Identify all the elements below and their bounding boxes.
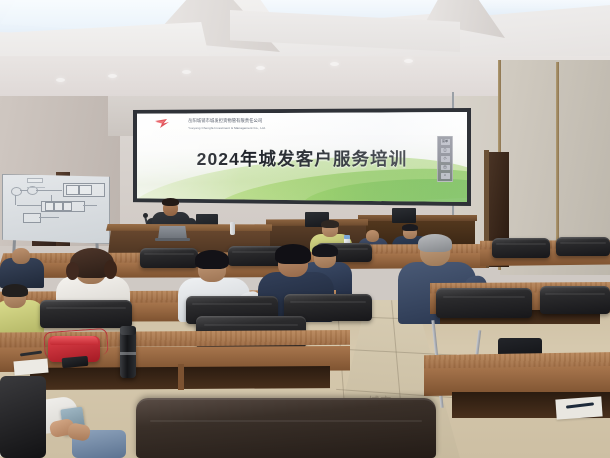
overlay-button-4[interactable]: ∨ (441, 173, 450, 179)
chair[interactable] (436, 288, 532, 318)
overlay-button-3[interactable]: 田 (441, 165, 450, 171)
attendee-hair-grey (418, 234, 452, 252)
projection-screen: 岳阳城销市城发担资物管有限责任公司 Yueyang Chengfa Invest… (137, 112, 467, 202)
chair[interactable] (40, 300, 132, 328)
screen-glare (137, 112, 467, 202)
attendee-hair (195, 250, 229, 269)
ceiling-downlight-icon (330, 62, 339, 66)
foreground-chair[interactable] (136, 398, 436, 458)
chair[interactable] (540, 286, 610, 314)
red-handbag-flap (50, 336, 98, 345)
chair[interactable] (492, 238, 550, 258)
attendee-hair (275, 244, 311, 264)
thermos-cap[interactable] (120, 326, 136, 335)
foreground-chair-seam (150, 420, 422, 422)
ceiling-downlight-icon (404, 59, 413, 63)
attendee-head (366, 230, 379, 242)
attendee-head (12, 248, 30, 264)
presenter-hair (162, 198, 179, 206)
water-bottle-cap (344, 235, 350, 239)
wall-trim-strip (556, 62, 559, 262)
foreground-chair-left[interactable] (0, 376, 46, 458)
attendee-hair (402, 224, 418, 231)
chair[interactable] (556, 237, 610, 256)
ceiling-downlight-icon (256, 66, 265, 70)
desktop-monitor (392, 208, 416, 223)
schematic-whiteboard (2, 174, 110, 244)
presenter-podium-top (106, 224, 272, 231)
projector-overlay-menu[interactable]: 菜单 口 小 田 ∨ (437, 136, 453, 182)
microphone-icon (143, 213, 148, 218)
water-bottle (230, 222, 235, 235)
chair[interactable] (140, 248, 198, 268)
attendee-hair (312, 244, 338, 257)
conference-room-photo: 岳阳城销市城发担资物管有限责任公司 Yueyang Chengfa Invest… (0, 0, 610, 458)
laptop-base[interactable] (155, 238, 190, 241)
skylight-panel-right (470, 0, 610, 16)
overlay-button-0[interactable]: 菜单 (441, 139, 450, 145)
ceiling-downlight-icon (182, 70, 191, 74)
attendee-hair-curl (66, 262, 79, 280)
front-desk-far-right-top (358, 215, 477, 221)
attendee-hair-curl (104, 260, 117, 279)
ceiling-downlight-icon (56, 78, 65, 82)
overlay-button-2[interactable]: 小 (441, 156, 450, 162)
overlay-button-1[interactable]: 口 (441, 148, 450, 154)
attendee-hair (2, 284, 28, 297)
desk-shelf-divider (178, 364, 184, 390)
attendee-hair (321, 220, 339, 228)
thermos-band (120, 352, 136, 355)
documents-papers[interactable] (13, 359, 48, 376)
ceiling-downlight-icon (108, 74, 117, 78)
documents-papers[interactable] (555, 396, 602, 419)
